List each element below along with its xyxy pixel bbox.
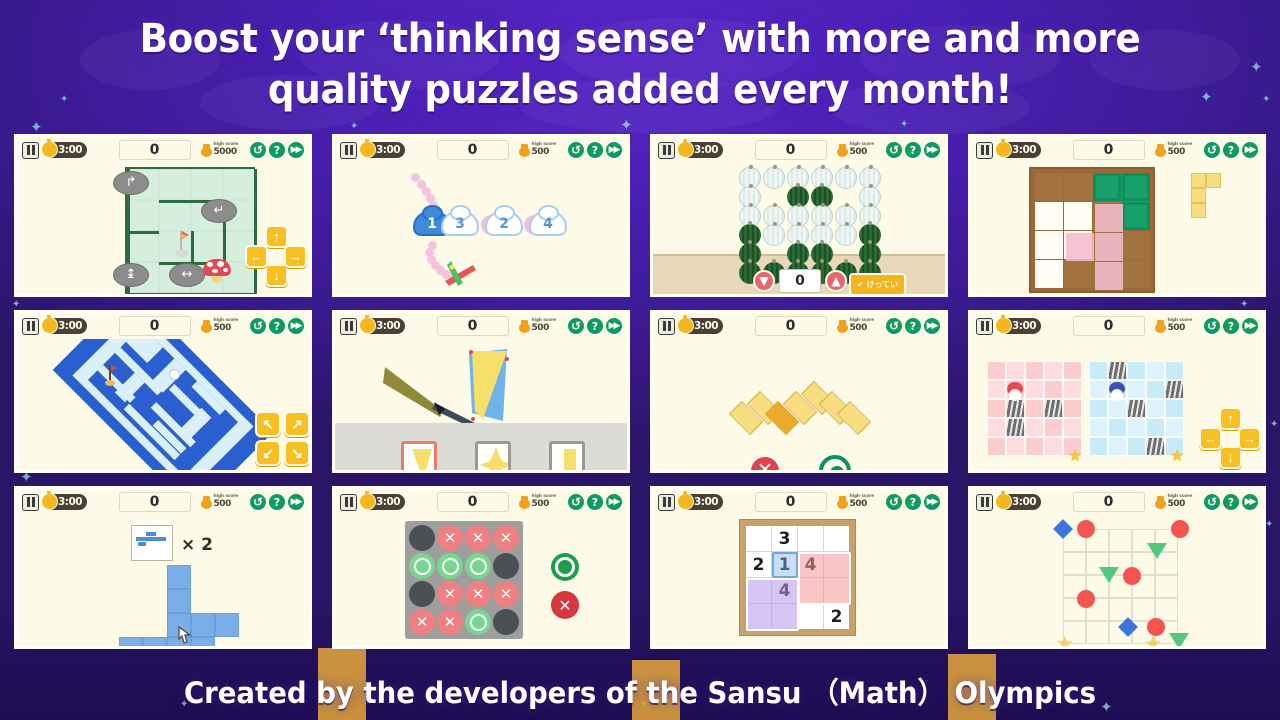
- pink-piece[interactable]: [1095, 204, 1123, 232]
- reference-piece-card: [131, 525, 173, 561]
- high-score-value: 500: [850, 500, 874, 509]
- region-pink: [798, 552, 851, 605]
- pause-button[interactable]: [340, 318, 357, 335]
- sparkle-icon: ✦: [1270, 420, 1278, 430]
- place-circle-button[interactable]: [551, 553, 579, 581]
- number-cell[interactable]: 2: [746, 552, 771, 577]
- answer-option-1[interactable]: [401, 441, 437, 470]
- puzzle-card-twin-grids[interactable]: 3:000high score500↺?▶▶★★↑↓←→: [968, 310, 1266, 473]
- help-icon[interactable]: ?: [1223, 318, 1239, 334]
- maze-base: [53, 339, 274, 470]
- medal-icon: [201, 144, 212, 157]
- diagonal-button-3[interactable]: ↙: [255, 440, 281, 466]
- maze-cell: [159, 200, 191, 231]
- high-score-text: high score500: [214, 319, 238, 333]
- pink-cell[interactable]: [1063, 380, 1082, 399]
- fast-forward-icon[interactable]: ▶▶: [606, 142, 622, 158]
- reference-block: [136, 537, 146, 541]
- headline: Boost your ‘thinking sense’ with more an…: [45, 14, 1235, 116]
- pause-button[interactable]: [22, 318, 39, 335]
- clock-icon: [677, 317, 694, 334]
- pause-bar-left: [663, 497, 666, 507]
- cyan-cell[interactable]: [1089, 361, 1108, 380]
- star-goal: ★: [1170, 449, 1184, 465]
- green-block: [1122, 173, 1150, 201]
- timer-display: 3:00: [997, 494, 1041, 510]
- undo-icon[interactable]: ↺: [1204, 142, 1220, 158]
- board-cell: [1122, 260, 1150, 288]
- pause-button[interactable]: [22, 142, 39, 159]
- dpad-down-button[interactable]: ↓: [1219, 446, 1242, 469]
- puzzle-card-shape-grid[interactable]: 3:000high score500↺?▶▶★★: [968, 486, 1266, 649]
- fast-forward-icon[interactable]: ▶▶: [924, 142, 940, 158]
- penguin-body: [1009, 389, 1021, 401]
- fast-forward-icon[interactable]: ▶▶: [606, 494, 622, 510]
- pink-cell[interactable]: [987, 380, 1006, 399]
- high-score: high score500: [519, 495, 556, 509]
- timer-display: 3:00: [997, 318, 1041, 334]
- dpad-up-button[interactable]: ↑: [1219, 407, 1242, 430]
- grid-cell[interactable]: [1155, 575, 1178, 598]
- medal-icon: [201, 496, 212, 509]
- help-icon[interactable]: ?: [269, 318, 285, 334]
- timer-value: 3:00: [694, 144, 718, 156]
- hud-icon-group: ↺?▶▶: [250, 494, 304, 510]
- pause-bar-left: [663, 145, 666, 155]
- arrow-stone[interactable]: ↔: [169, 263, 205, 287]
- sparkle-icon: ✦: [1265, 520, 1273, 530]
- undo-icon[interactable]: ↺: [250, 494, 266, 510]
- game-hud: 3:000high score500↺?▶▶: [653, 137, 945, 163]
- dpad-right-button[interactable]: →: [284, 245, 307, 268]
- pink-cell[interactable]: [1025, 361, 1044, 380]
- pause-bar-right: [350, 145, 353, 155]
- placed-block[interactable]: [143, 637, 167, 646]
- puzzle-stage-cube-net[interactable]: ✕: [653, 339, 945, 470]
- ox-cell-x[interactable]: ✕: [465, 525, 491, 551]
- undo-icon[interactable]: ↺: [886, 318, 902, 334]
- star-marker: ★: [1055, 633, 1075, 646]
- fast-forward-icon[interactable]: ▶▶: [288, 318, 304, 334]
- help-icon[interactable]: ?: [1223, 494, 1239, 510]
- pink-cell[interactable]: [987, 361, 1006, 380]
- pause-bar-right: [668, 321, 671, 331]
- diagonal-button-1[interactable]: ↖: [255, 411, 281, 437]
- cyan-cell[interactable]: [1108, 418, 1127, 437]
- board-cell: [1035, 173, 1063, 201]
- dpad-right-button[interactable]: →: [1238, 427, 1261, 450]
- score-display: 0: [1073, 140, 1145, 160]
- goal-flag: [175, 229, 189, 257]
- pink-piece[interactable]: [1066, 233, 1094, 261]
- pause-bar-right: [32, 145, 35, 155]
- puzzle-card-iso-maze[interactable]: 3:000high score500↺?▶▶↖↗↙↘: [14, 310, 312, 473]
- help-icon[interactable]: ?: [587, 494, 603, 510]
- white-region: [1035, 231, 1063, 259]
- maze-cell: [191, 169, 223, 200]
- undo-icon[interactable]: ↺: [886, 494, 902, 510]
- ox-cell-o[interactable]: [465, 609, 491, 635]
- hud-icon-group: ↺?▶▶: [1204, 318, 1258, 334]
- puzzle-card-block-packing[interactable]: 3:000high score500↺?▶▶: [968, 134, 1266, 297]
- increase-button[interactable]: ▲: [825, 270, 847, 292]
- puzzle-stage-paper-cut[interactable]: [335, 339, 627, 470]
- pause-button[interactable]: [976, 318, 993, 335]
- dpad-up-button[interactable]: ↑: [265, 225, 288, 248]
- ox-cell-empty[interactable]: [493, 553, 519, 579]
- board-cell: [1064, 260, 1092, 288]
- pause-bar-left: [27, 321, 30, 331]
- puzzle-card-polyomino[interactable]: 3:000high score500↺?▶▶× 2: [14, 486, 312, 649]
- direction-pad: ↑↓←→: [245, 225, 307, 287]
- help-icon[interactable]: ?: [905, 142, 921, 158]
- ox-cell-o[interactable]: [409, 553, 435, 579]
- clock-icon: [359, 141, 376, 158]
- cloud-number: 2: [485, 211, 523, 236]
- arrow-stone[interactable]: ↨: [113, 263, 149, 287]
- medal-icon: [201, 320, 212, 333]
- high-score: high score500: [1155, 319, 1192, 333]
- timer-value: 3:00: [1012, 320, 1036, 332]
- ox-cell-empty[interactable]: [409, 581, 435, 607]
- spike-cell[interactable]: [1108, 361, 1127, 380]
- number-cell[interactable]: [824, 526, 849, 551]
- fast-forward-icon[interactable]: ▶▶: [1242, 142, 1258, 158]
- spike-cell[interactable]: [1146, 437, 1165, 456]
- number-cell[interactable]: [746, 526, 771, 551]
- hud-icon-group: ↺?▶▶: [886, 494, 940, 510]
- wrong-button[interactable]: ✕: [749, 455, 781, 470]
- pause-bar-right: [350, 497, 353, 507]
- help-icon[interactable]: ?: [587, 142, 603, 158]
- ox-cell-x[interactable]: ✕: [493, 581, 519, 607]
- pause-button[interactable]: [22, 494, 39, 511]
- pink-cell[interactable]: [1063, 361, 1082, 380]
- spike-cell[interactable]: [1127, 399, 1146, 418]
- pink-cell[interactable]: [1025, 418, 1044, 437]
- pause-bar-right: [986, 145, 989, 155]
- place-cross-button[interactable]: ✕: [551, 591, 579, 619]
- sparkle-icon: ✦: [350, 122, 358, 132]
- pink-cell[interactable]: [1044, 437, 1063, 456]
- pink-cell[interactable]: [1044, 380, 1063, 399]
- pink-cell[interactable]: [1044, 361, 1063, 380]
- cyan-cell[interactable]: [1089, 437, 1108, 456]
- decrease-button[interactable]: ▼: [753, 270, 775, 292]
- high-score-value: 500: [850, 324, 874, 333]
- pink-cell[interactable]: [1063, 418, 1082, 437]
- pause-button[interactable]: [658, 318, 675, 335]
- placed-block[interactable]: [119, 637, 143, 646]
- score-display: 0: [119, 140, 191, 160]
- medal-icon: [519, 144, 530, 157]
- pause-button[interactable]: [976, 142, 993, 159]
- maze-wall: [127, 231, 159, 234]
- placed-block[interactable]: [215, 613, 239, 637]
- number-cell[interactable]: 2: [824, 604, 849, 629]
- answer-value: 0: [779, 269, 821, 293]
- cyan-cell[interactable]: [1089, 399, 1108, 418]
- game-hud: 3:000high score500↺?▶▶: [335, 489, 627, 515]
- high-score-value: 500: [850, 148, 874, 157]
- cyan-cell[interactable]: [1146, 361, 1165, 380]
- ox-cell-x[interactable]: ✕: [437, 581, 463, 607]
- ox-cell-o[interactable]: [437, 553, 463, 579]
- placed-block[interactable]: [167, 589, 191, 613]
- ox-cell-x[interactable]: ✕: [437, 525, 463, 551]
- puzzle-stage-iso-maze[interactable]: ↖↗↙↘: [17, 339, 309, 470]
- timer-display: 3:00: [43, 494, 87, 510]
- maze-cell: [159, 169, 191, 200]
- timer-value: 3:00: [58, 320, 82, 332]
- diagonal-button-4[interactable]: ↘: [284, 440, 309, 466]
- puzzle-card-watermelon-count[interactable]: 3:000high score500↺?▶▶▼0▲✔ けってい: [650, 134, 948, 297]
- fast-forward-icon[interactable]: ▶▶: [288, 142, 304, 158]
- cyan-cell[interactable]: [1127, 380, 1146, 399]
- pause-button[interactable]: [976, 494, 993, 511]
- footer-tagline: Created by the developers of the Sansu （…: [32, 678, 1248, 710]
- puzzle-stage-twin-grids[interactable]: ★★↑↓←→: [971, 339, 1263, 470]
- number-cell[interactable]: [798, 526, 823, 551]
- pink-cell[interactable]: [1025, 399, 1044, 418]
- ox-cell-empty[interactable]: [409, 525, 435, 551]
- fast-forward-icon[interactable]: ▶▶: [924, 318, 940, 334]
- pink-cell[interactable]: [1025, 437, 1044, 456]
- game-hud: 3:000high score500↺?▶▶: [971, 313, 1263, 339]
- undo-icon[interactable]: ↺: [1204, 494, 1220, 510]
- score-display: 0: [437, 316, 509, 336]
- fast-forward-icon[interactable]: ▶▶: [1242, 494, 1258, 510]
- pause-button[interactable]: [340, 142, 357, 159]
- timer-display: 3:00: [43, 142, 87, 158]
- pink-piece[interactable]: [1095, 233, 1123, 261]
- cyan-cell[interactable]: [1089, 380, 1108, 399]
- timer-display: 3:00: [43, 318, 87, 334]
- ox-cell-empty[interactable]: [493, 609, 519, 635]
- help-icon[interactable]: ?: [269, 142, 285, 158]
- ox-cell-x[interactable]: ✕: [409, 609, 435, 635]
- watermelon-light[interactable]: [763, 167, 785, 189]
- cyan-cell[interactable]: [1165, 399, 1184, 418]
- mushroom-spot: [207, 262, 213, 267]
- puzzle-stage-cloud-numbers[interactable]: 1324: [335, 163, 627, 294]
- fast-forward-icon[interactable]: ▶▶: [1242, 318, 1258, 334]
- pause-bar-left: [27, 145, 30, 155]
- clock-icon: [41, 141, 58, 158]
- pink-cell[interactable]: [987, 399, 1006, 418]
- help-icon[interactable]: ?: [1223, 142, 1239, 158]
- direction-pad: ↑↓←→: [1199, 407, 1261, 469]
- game-hud: 3:000high score500↺?▶▶: [971, 137, 1263, 163]
- high-score-text: high score500: [850, 319, 874, 333]
- cloud-node-3[interactable]: 3: [441, 211, 479, 236]
- puzzle-stage-ox-grid[interactable]: ✕✕✕✕✕✕✕✕✕: [335, 515, 627, 646]
- help-icon[interactable]: ?: [905, 494, 921, 510]
- pink-cell[interactable]: [1006, 437, 1025, 456]
- number-cell[interactable]: [798, 604, 823, 629]
- grid-cell[interactable]: [1063, 552, 1086, 575]
- medal-icon: [1155, 144, 1166, 157]
- pause-button[interactable]: [658, 142, 675, 159]
- pink-cell[interactable]: [1044, 418, 1063, 437]
- arrow-stone[interactable]: ↵: [201, 199, 237, 223]
- spike-cell[interactable]: [1165, 380, 1184, 399]
- cyan-cell[interactable]: [1089, 418, 1108, 437]
- cyan-cell[interactable]: [1146, 399, 1165, 418]
- timer-value: 3:00: [694, 496, 718, 508]
- undo-icon[interactable]: ↺: [250, 318, 266, 334]
- tray-piece-block[interactable]: [1191, 203, 1206, 218]
- help-icon[interactable]: ?: [905, 318, 921, 334]
- pointer-cursor: [175, 625, 195, 646]
- pause-bar-left: [345, 145, 348, 155]
- confirm-button[interactable]: ✔ けってい: [849, 273, 906, 294]
- hud-icon-group: ↺?▶▶: [568, 318, 622, 334]
- high-score: high score500: [837, 319, 874, 333]
- timer-value: 3:00: [376, 496, 400, 508]
- circle-marker: [1077, 590, 1095, 608]
- spike-cell[interactable]: [1044, 399, 1063, 418]
- high-score-value: 500: [1168, 324, 1192, 333]
- fast-forward-icon[interactable]: ▶▶: [924, 494, 940, 510]
- cyan-cell[interactable]: [1146, 380, 1165, 399]
- grid-cell[interactable]: [1109, 529, 1132, 552]
- pause-button[interactable]: [658, 494, 675, 511]
- high-score: high score500: [837, 495, 874, 509]
- puzzle-card-cloud-numbers[interactable]: 3:000high score500↺?▶▶1324: [332, 134, 630, 297]
- fast-forward-icon[interactable]: ▶▶: [288, 494, 304, 510]
- correct-button[interactable]: [819, 455, 851, 470]
- ox-cell-x[interactable]: ✕: [493, 525, 519, 551]
- dpad-left-button[interactable]: ←: [245, 245, 268, 268]
- arrow-stone[interactable]: ↱: [113, 171, 149, 195]
- undo-icon[interactable]: ↺: [568, 494, 584, 510]
- pause-bar-left: [27, 497, 30, 507]
- pink-cell[interactable]: [1063, 399, 1082, 418]
- number-cell[interactable]: 3: [772, 526, 797, 551]
- fast-forward-icon[interactable]: ▶▶: [606, 318, 622, 334]
- undo-icon[interactable]: ↺: [568, 318, 584, 334]
- score-display: 0: [437, 492, 509, 512]
- puzzle-card-number-regions[interactable]: 3:000high score500↺?▶▶321442: [650, 486, 948, 649]
- multiplier-label: × 2: [181, 535, 213, 555]
- medal-icon: [1155, 496, 1166, 509]
- undo-icon[interactable]: ↺: [886, 142, 902, 158]
- tray-piece-block[interactable]: [1191, 173, 1206, 188]
- answer-option-3[interactable]: [549, 441, 585, 470]
- triangle-marker: [1147, 543, 1167, 559]
- diagonal-button-2[interactable]: ↗: [284, 411, 309, 437]
- puzzle-stage-maze-arrows[interactable]: ↱↵↨↔↑↓←→: [17, 163, 309, 294]
- star-goal: ★: [1068, 449, 1082, 465]
- high-score-value: 500: [532, 500, 556, 509]
- cloud-node-2[interactable]: 2: [485, 211, 523, 236]
- clock-icon: [41, 317, 58, 334]
- high-score-value: 500: [214, 500, 238, 509]
- undo-icon[interactable]: ↺: [568, 142, 584, 158]
- timer-value: 3:00: [376, 320, 400, 332]
- placed-block[interactable]: [167, 565, 191, 589]
- cyan-cell[interactable]: [1165, 361, 1184, 380]
- pink-cell[interactable]: [1006, 361, 1025, 380]
- dpad-left-button[interactable]: ←: [1199, 427, 1222, 450]
- high-score-text: high score5000: [214, 143, 238, 157]
- puzzle-card-cube-net[interactable]: 3:000high score500↺?▶▶✕: [650, 310, 948, 473]
- undo-icon[interactable]: ↺: [1204, 318, 1220, 334]
- cyan-cell[interactable]: [1146, 418, 1165, 437]
- high-score-text: high score500: [532, 143, 556, 157]
- grid-cell[interactable]: [1086, 621, 1109, 644]
- white-region: [1035, 202, 1063, 230]
- cyan-cell[interactable]: [1127, 418, 1146, 437]
- watermelon-light[interactable]: [835, 224, 857, 246]
- board-cell: [1064, 173, 1092, 201]
- puzzle-card-maze-arrows[interactable]: 3:000high score5000↺?▶▶↱↵↨↔↑↓←→: [14, 134, 312, 297]
- pink-cell[interactable]: [987, 437, 1006, 456]
- game-hud: 3:000high score5000↺?▶▶: [17, 137, 309, 163]
- medal-icon: [1155, 320, 1166, 333]
- undo-icon[interactable]: ↺: [250, 142, 266, 158]
- green-block: [1122, 202, 1150, 230]
- cyan-cell[interactable]: [1165, 418, 1184, 437]
- puzzle-stage-watermelon-count[interactable]: ▼0▲✔ けってい: [653, 163, 945, 294]
- cloud-number: 4: [529, 211, 567, 236]
- ox-cell-o[interactable]: [465, 553, 491, 579]
- cyan-cell[interactable]: [1108, 437, 1127, 456]
- puzzle-stage-shape-grid[interactable]: ★★: [971, 515, 1263, 646]
- pause-bar-left: [981, 497, 984, 507]
- cyan-cell[interactable]: [1127, 361, 1146, 380]
- ox-cell-x[interactable]: ✕: [437, 609, 463, 635]
- puzzle-card-paper-cut[interactable]: 3:000high score500↺?▶▶: [332, 310, 630, 473]
- cyan-cell[interactable]: [1127, 437, 1146, 456]
- watermelon-light[interactable]: [835, 167, 857, 189]
- puzzle-stage-block-packing[interactable]: [971, 163, 1263, 294]
- pause-bar-right: [986, 497, 989, 507]
- medal-icon: [837, 320, 848, 333]
- puzzle-card-ox-grid[interactable]: 3:000high score500↺?▶▶✕✕✕✕✕✕✕✕✕: [332, 486, 630, 649]
- answer-option-2[interactable]: [475, 441, 511, 470]
- cloud-node-4[interactable]: 4: [529, 211, 567, 236]
- help-icon[interactable]: ?: [587, 318, 603, 334]
- grid-cell[interactable]: [1132, 598, 1155, 621]
- help-icon[interactable]: ?: [269, 494, 285, 510]
- high-score-value: 500: [532, 324, 556, 333]
- ox-cell-x[interactable]: ✕: [465, 581, 491, 607]
- tray-piece-block[interactable]: [1191, 188, 1206, 203]
- puzzle-stage-polyomino[interactable]: × 2: [17, 515, 309, 646]
- penguin-avatar: [1006, 382, 1024, 402]
- maze-cell: [223, 169, 255, 200]
- dpad-down-button[interactable]: ↓: [265, 264, 288, 287]
- tray-piece-block[interactable]: [1206, 173, 1221, 188]
- timer-display: 3:00: [679, 142, 723, 158]
- high-score: high score5000: [201, 143, 238, 157]
- pause-button[interactable]: [340, 494, 357, 511]
- clock-icon: [995, 317, 1012, 334]
- triangle-marker: [1169, 633, 1189, 646]
- pink-cell[interactable]: [987, 418, 1006, 437]
- score-display: 0: [755, 316, 827, 336]
- mushroom-spot: [212, 269, 218, 273]
- puzzle-stage-number-regions[interactable]: 321442: [653, 515, 945, 646]
- watermelon-light[interactable]: [763, 224, 785, 246]
- pink-cell[interactable]: [1025, 380, 1044, 399]
- spike-cell[interactable]: [1006, 418, 1025, 437]
- hud-icon-group: ↺?▶▶: [568, 142, 622, 158]
- pink-piece[interactable]: [1095, 262, 1123, 290]
- high-score-text: high score500: [1168, 495, 1192, 509]
